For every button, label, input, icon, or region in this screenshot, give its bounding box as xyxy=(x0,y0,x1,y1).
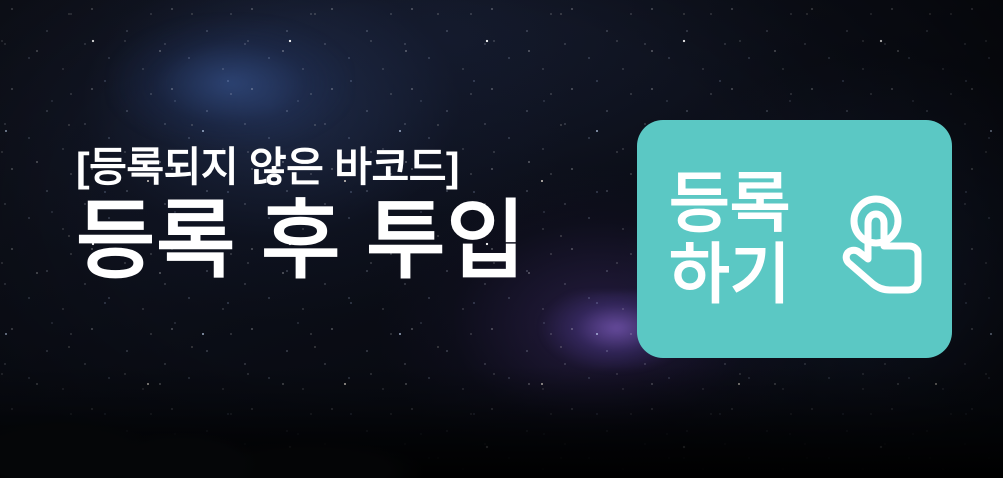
tap-hand-icon xyxy=(838,192,930,302)
cta-label-group: 등록 하기 xyxy=(669,168,790,311)
banner-root: [등록되지 않은 바코드] 등록 후 투입 등록 하기 xyxy=(0,0,1003,478)
headline-subtitle: [등록되지 않은 바코드] xyxy=(76,146,616,188)
treeline-silhouette xyxy=(0,386,460,478)
cta-label-line2: 하기 xyxy=(669,239,790,310)
cta-label-line1: 등록 xyxy=(669,168,790,239)
register-cta-button[interactable]: 등록 하기 xyxy=(637,120,952,358)
headline-block: [등록되지 않은 바코드] 등록 후 투입 xyxy=(76,146,616,287)
headline-title: 등록 후 투입 xyxy=(76,196,616,287)
